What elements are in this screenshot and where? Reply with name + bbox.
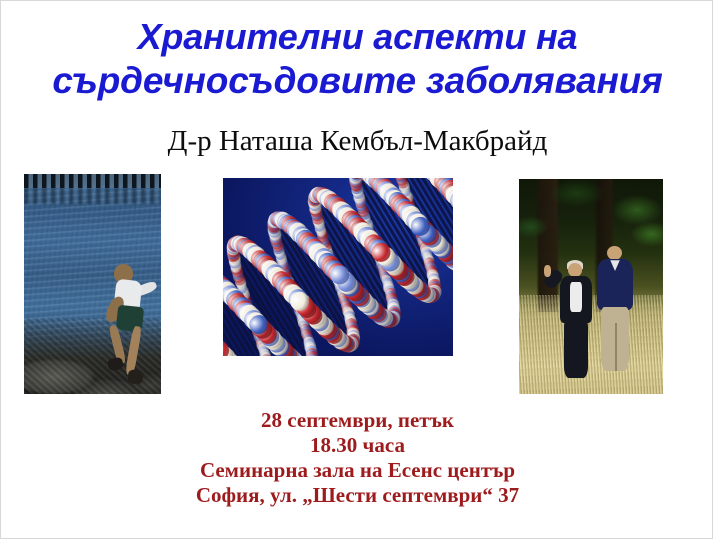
event-time: 18.30 часа xyxy=(1,433,713,458)
photo-elderly-couple xyxy=(519,179,663,394)
man-figure xyxy=(594,246,637,379)
title-line-1: Хранителни аспекти на xyxy=(1,15,713,59)
boy-figure xyxy=(102,264,157,387)
man-leg-gap xyxy=(615,323,617,371)
photo-dna-helix xyxy=(223,178,453,356)
boy-shoe-back xyxy=(107,357,124,372)
woman-head xyxy=(568,263,583,277)
pier-reflection xyxy=(24,188,161,204)
dna-shadow xyxy=(223,178,453,356)
event-details: 28 септември, петък 18.30 часа Семинарна… xyxy=(1,408,713,508)
slide-title: Хранителни аспекти на сърдечносъдовите з… xyxy=(1,15,713,103)
presentation-slide: Хранителни аспекти на сърдечносъдовите з… xyxy=(0,0,713,539)
boy-leg-front xyxy=(125,325,142,375)
photo-boy-at-water xyxy=(24,174,161,394)
woman-blouse xyxy=(570,282,582,313)
woman-figure xyxy=(556,263,596,381)
pier-posts xyxy=(24,174,161,188)
photo-dna-content xyxy=(223,178,453,356)
event-date: 28 септември, петък xyxy=(1,408,713,433)
presenter-name: Д-р Наташа Кембъл-Макбрайд xyxy=(1,124,713,158)
event-address: София, ул. „Шести септември“ 37 xyxy=(1,483,713,508)
photo-boy-content xyxy=(24,174,161,394)
title-line-2: сърдечносъдовите заболявания xyxy=(1,59,713,103)
woman-trousers xyxy=(564,321,588,378)
photo-couple-content xyxy=(519,179,663,394)
woman-pointing-hand xyxy=(544,265,551,277)
boy-shoe-front xyxy=(128,369,145,384)
event-venue: Семинарна зала на Есенс център xyxy=(1,458,713,483)
